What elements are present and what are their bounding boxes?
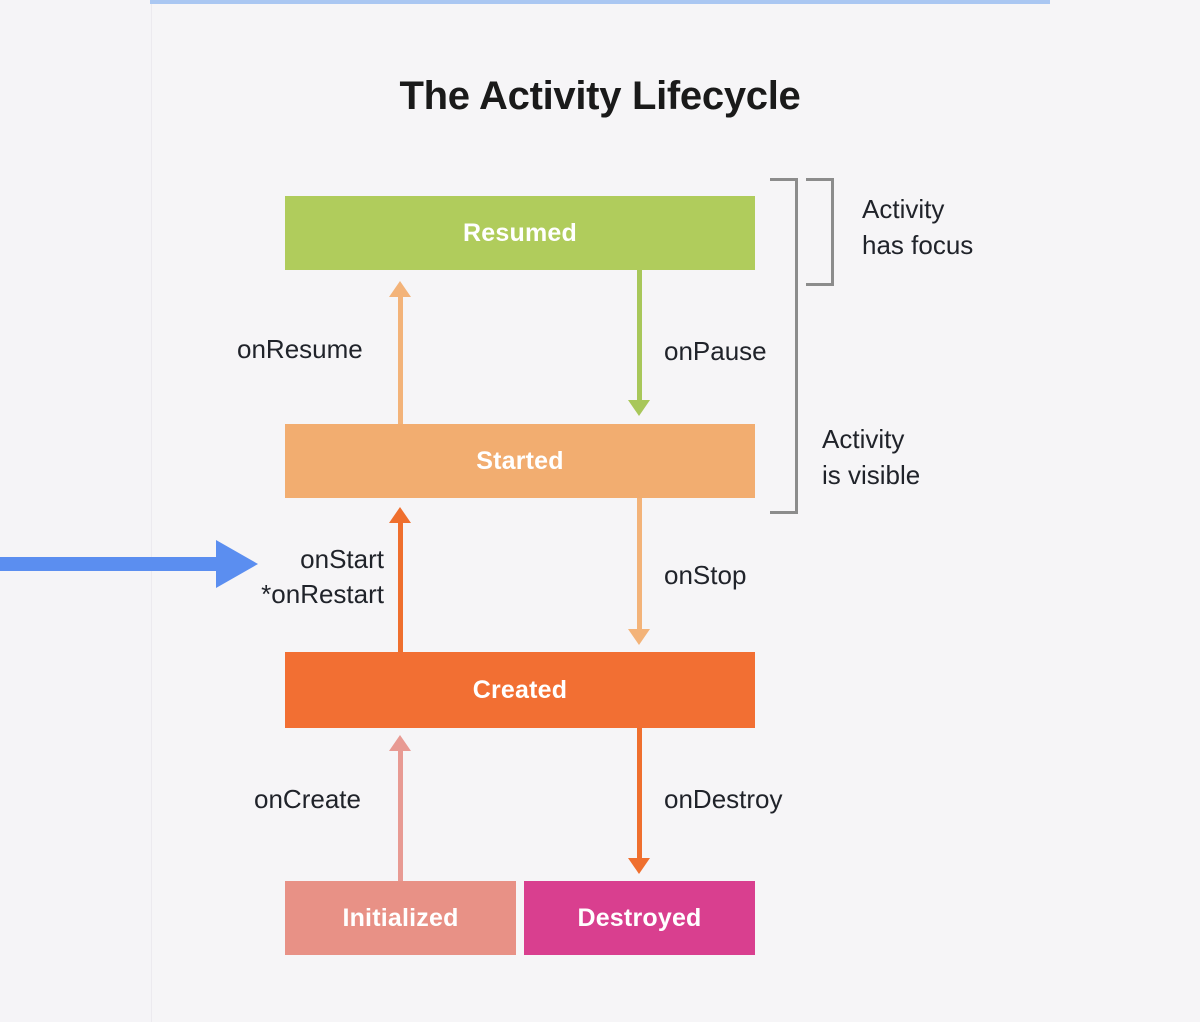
arrow-head-onresume: [389, 281, 411, 297]
arrow-line-onstart: [398, 520, 403, 654]
transition-label-oncreate: onCreate: [254, 782, 361, 817]
bracket-label-is-visible: Activity is visible: [822, 422, 920, 494]
left-gutter: [0, 0, 152, 1022]
bracket-label-has-focus: Activity has focus: [862, 192, 973, 264]
transition-label-ondestroy: onDestroy: [664, 782, 783, 817]
arrow-line-onresume: [398, 292, 403, 426]
page-title: The Activity Lifecycle: [0, 74, 1200, 119]
page-content-area: [152, 0, 1200, 1022]
bracket-is-visible: [770, 178, 798, 514]
state-box-started[interactable]: Started: [285, 424, 755, 498]
transition-label-onstop: onStop: [664, 558, 746, 593]
state-box-initialized[interactable]: Initialized: [285, 881, 516, 955]
arrow-head-oncreate: [389, 735, 411, 751]
transition-label-onresume: onResume: [237, 332, 363, 367]
state-box-resumed[interactable]: Resumed: [285, 196, 755, 270]
arrow-line-onpause: [637, 270, 642, 404]
content-divider: [151, 0, 152, 1022]
arrow-line-oncreate: [398, 748, 403, 882]
diagram-canvas: The Activity Lifecycle Resumed Started C…: [0, 0, 1200, 1022]
transition-label-onpause: onPause: [664, 334, 767, 369]
arrow-line-ondestroy: [637, 728, 642, 862]
state-box-destroyed[interactable]: Destroyed: [524, 881, 755, 955]
top-blue-rule: [150, 0, 1050, 4]
state-box-created[interactable]: Created: [285, 652, 755, 728]
arrow-head-onstart: [389, 507, 411, 523]
blue-pointer-arrow: [0, 536, 260, 592]
arrow-head-onstop: [628, 629, 650, 645]
arrow-head-ondestroy: [628, 858, 650, 874]
bracket-has-focus: [806, 178, 834, 286]
arrow-head-onpause: [628, 400, 650, 416]
arrow-line-onstop: [637, 498, 642, 631]
